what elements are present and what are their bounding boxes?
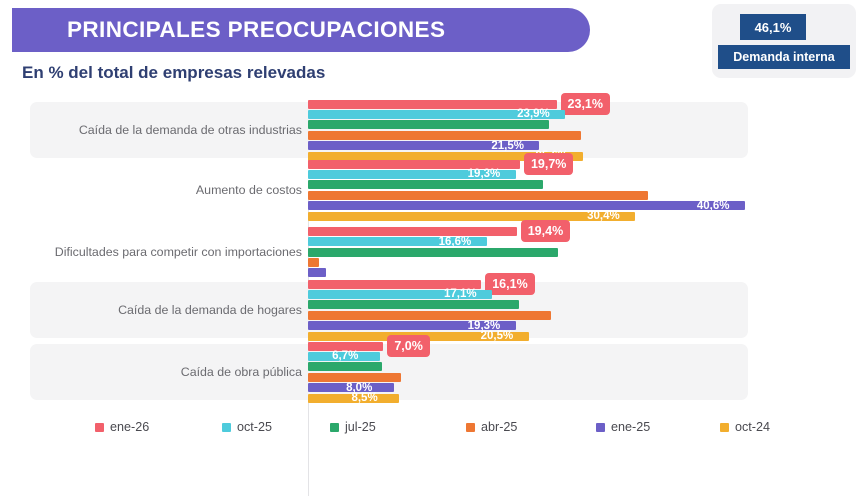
category-label: Aumento de costos bbox=[30, 183, 302, 197]
bar-value-label: 20,5% bbox=[481, 330, 514, 342]
kpi-label-badge: Demanda interna bbox=[718, 45, 850, 69]
legend-swatch-icon bbox=[720, 423, 729, 432]
bar-track bbox=[308, 373, 748, 382]
bar-track: 20,5% bbox=[308, 332, 748, 341]
category-bar-group: 16,1%17,1%19,3%20,5% bbox=[308, 282, 748, 338]
category-bar-group: 19,7%19,3%40,6%30,4% bbox=[308, 164, 748, 216]
category-label: Caída de la demanda de otras industrias bbox=[30, 123, 302, 137]
legend-item-ene-26[interactable]: ene-26 bbox=[95, 420, 149, 434]
bar-track bbox=[308, 120, 748, 129]
bar-abr-25[interactable] bbox=[308, 258, 319, 267]
bar-track: 40,6% bbox=[308, 201, 748, 210]
legend-swatch-icon bbox=[222, 423, 231, 432]
chart-category-row: Dificultades para competir con importaci… bbox=[30, 226, 748, 278]
bar-jul-25[interactable] bbox=[308, 248, 558, 257]
legend-label: oct-25 bbox=[237, 420, 272, 434]
bar-track bbox=[308, 131, 748, 140]
bar-track bbox=[308, 191, 748, 200]
category-bar-group: 19,4%16,6% bbox=[308, 226, 748, 278]
bar-value-label: 19,3% bbox=[468, 168, 501, 180]
bar-track: 19,3% bbox=[308, 321, 748, 330]
bar-track: 30,4% bbox=[308, 212, 748, 221]
legend-swatch-icon bbox=[95, 423, 104, 432]
chart-category-row: Caída de la demanda de otras industrias2… bbox=[30, 102, 748, 158]
chart-category-row: Caída de la demanda de hogares16,1%17,1%… bbox=[30, 282, 748, 338]
category-label: Caída de obra pública bbox=[30, 365, 302, 379]
bar-abr-25[interactable] bbox=[308, 373, 401, 382]
chart-category-row: Aumento de costos19,7%19,3%40,6%30,4% bbox=[30, 164, 748, 216]
legend-item-jul-25[interactable]: jul-25 bbox=[330, 420, 376, 434]
bar-ene-26[interactable] bbox=[308, 100, 557, 109]
legend-label: ene-25 bbox=[611, 420, 650, 434]
chart-legend: ene-26oct-25jul-25abr-25ene-25oct-24 bbox=[0, 412, 862, 442]
bar-ene-25[interactable] bbox=[308, 268, 326, 277]
bar-value-label: 8,5% bbox=[351, 392, 377, 404]
bar-track bbox=[308, 362, 748, 371]
bar-track: 19,7% bbox=[308, 160, 748, 169]
kpi-card: 46,1% Demanda interna bbox=[712, 4, 856, 78]
bar-track: 7,0% bbox=[308, 342, 748, 351]
bar-track bbox=[308, 311, 748, 320]
bar-value-label: 30,4% bbox=[587, 210, 620, 222]
category-bar-group: 7,0%6,7%8,0%8,5% bbox=[308, 344, 748, 400]
legend-label: abr-25 bbox=[481, 420, 517, 434]
bar-jul-25[interactable] bbox=[308, 300, 519, 309]
bar-value-label: 6,7% bbox=[332, 350, 358, 362]
legend-item-abr-25[interactable]: abr-25 bbox=[466, 420, 517, 434]
bar-track bbox=[308, 258, 748, 267]
bar-jul-25[interactable] bbox=[308, 180, 543, 189]
legend-swatch-icon bbox=[466, 423, 475, 432]
bar-track: 16,6% bbox=[308, 237, 748, 246]
legend-label: ene-26 bbox=[110, 420, 149, 434]
bar-track: 21,5% bbox=[308, 141, 748, 150]
category-bar-group: 23,1%23,9%21,5%25,6% bbox=[308, 102, 748, 158]
bar-abr-25[interactable] bbox=[308, 191, 648, 200]
bar-track: 17,1% bbox=[308, 290, 748, 299]
bar-abr-25[interactable] bbox=[308, 131, 581, 140]
bar-value-label: 16,6% bbox=[439, 236, 472, 248]
bar-track bbox=[308, 180, 748, 189]
bar-ene-26[interactable] bbox=[308, 342, 383, 351]
kpi-label: Demanda interna bbox=[733, 50, 834, 64]
header: PRINCIPALES PREOCUPACIONES En % del tota… bbox=[0, 0, 862, 96]
bar-track: 8,5% bbox=[308, 394, 748, 403]
bar-track: 19,4% bbox=[308, 227, 748, 236]
bar-jul-25[interactable] bbox=[308, 362, 382, 371]
bar-value-label: 17,1% bbox=[444, 288, 477, 300]
legend-label: jul-25 bbox=[345, 420, 376, 434]
bar-track: 8,0% bbox=[308, 383, 748, 392]
bar-abr-25[interactable] bbox=[308, 311, 551, 320]
title-banner: PRINCIPALES PREOCUPACIONES bbox=[12, 8, 590, 52]
bar-track: 23,1% bbox=[308, 100, 748, 109]
kpi-value-badge: 46,1% bbox=[740, 14, 806, 40]
category-label: Dificultades para competir con importaci… bbox=[30, 245, 302, 259]
chart-subtitle: En % del total de empresas relevadas bbox=[22, 63, 325, 83]
bar-ene-26[interactable] bbox=[308, 280, 481, 289]
category-label: Caída de la demanda de hogares bbox=[30, 303, 302, 317]
legend-item-oct-24[interactable]: oct-24 bbox=[720, 420, 770, 434]
bar-value-label: 21,5% bbox=[491, 140, 524, 152]
bar-jul-25[interactable] bbox=[308, 120, 549, 129]
bar-track bbox=[308, 248, 748, 257]
kpi-value: 46,1% bbox=[755, 20, 792, 35]
bar-ene-26[interactable] bbox=[308, 227, 517, 236]
bar-track: 23,9% bbox=[308, 110, 748, 119]
bar-chart: Caída de la demanda de otras industrias2… bbox=[0, 96, 862, 406]
legend-swatch-icon bbox=[330, 423, 339, 432]
bar-track bbox=[308, 300, 748, 309]
bar-ene-26[interactable] bbox=[308, 160, 520, 169]
bar-oct-24[interactable] bbox=[308, 212, 635, 221]
bar-track: 6,7% bbox=[308, 352, 748, 361]
bar-ene-25[interactable] bbox=[308, 201, 745, 210]
bar-value-label: 23,9% bbox=[517, 108, 550, 120]
legend-swatch-icon bbox=[596, 423, 605, 432]
legend-item-oct-25[interactable]: oct-25 bbox=[222, 420, 272, 434]
bar-value-label: 40,6% bbox=[697, 200, 730, 212]
chart-category-row: Caída de obra pública7,0%6,7%8,0%8,5% bbox=[30, 344, 748, 400]
legend-item-ene-25[interactable]: ene-25 bbox=[596, 420, 650, 434]
legend-label: oct-24 bbox=[735, 420, 770, 434]
page-title: PRINCIPALES PREOCUPACIONES bbox=[67, 17, 445, 43]
bar-track: 19,3% bbox=[308, 170, 748, 179]
bar-track: 16,1% bbox=[308, 280, 748, 289]
